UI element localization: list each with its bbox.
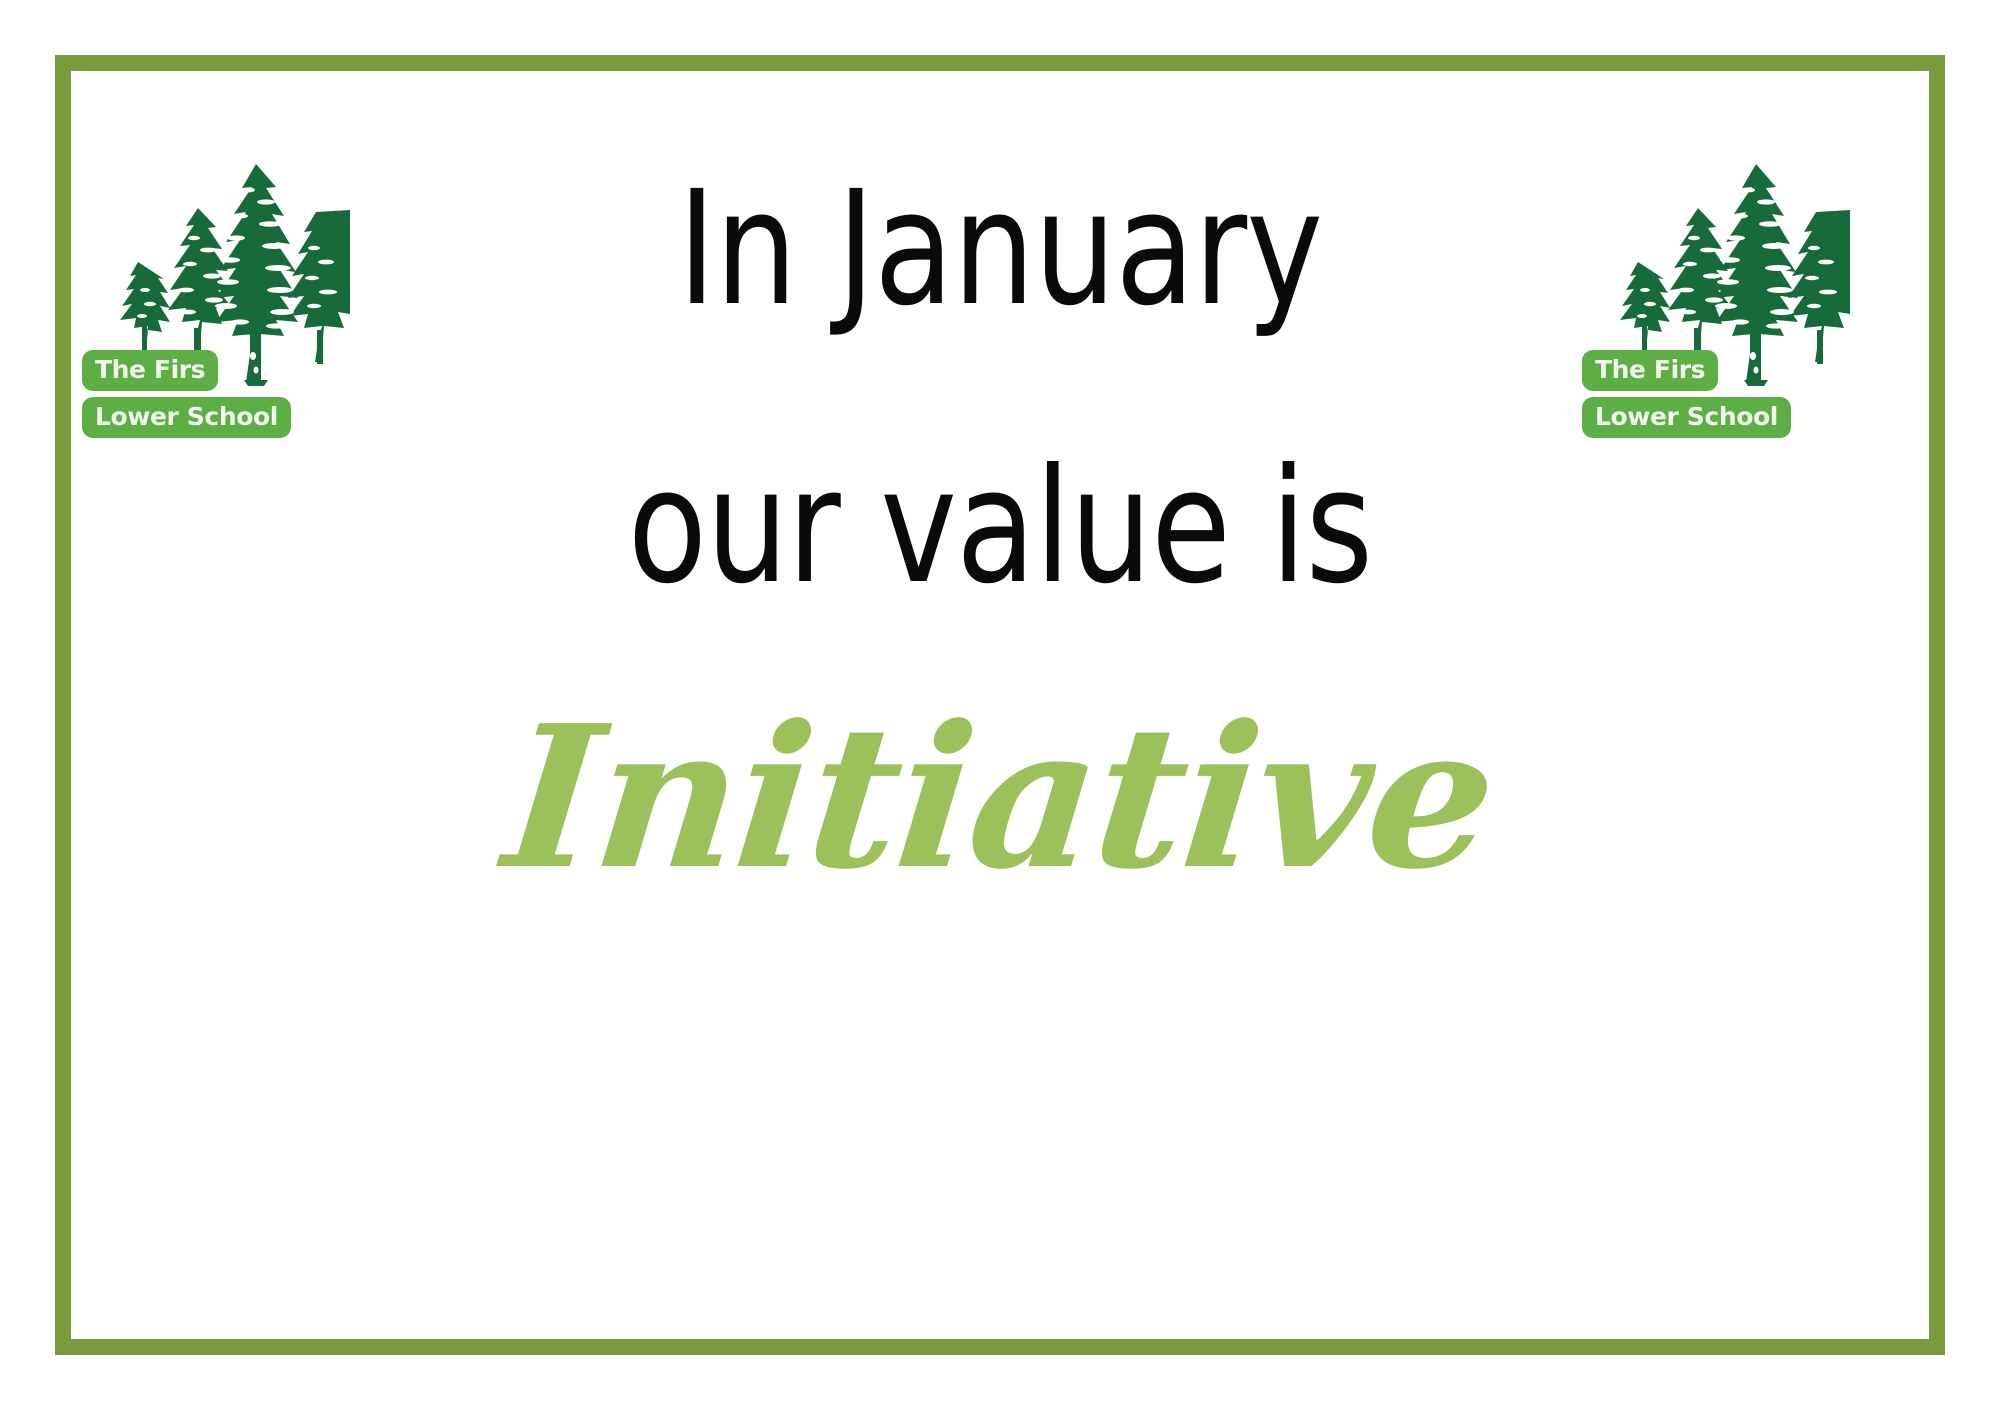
badge-row-the-firs: The Firs xyxy=(82,350,342,391)
logo-badges: The Firs Lower School xyxy=(1582,350,1842,444)
headline-line-2: our value is xyxy=(180,448,1820,606)
badge-row-lower-school: Lower School xyxy=(1582,397,1842,438)
badge-row-the-firs: The Firs xyxy=(1582,350,1842,391)
badge-row-lower-school: Lower School xyxy=(82,397,342,438)
badge-the-firs: The Firs xyxy=(82,350,218,391)
headline-line-1: In January xyxy=(180,170,1820,328)
badge-the-firs: The Firs xyxy=(1582,350,1718,391)
value-word: Initiative xyxy=(0,700,2000,896)
badge-lower-school: Lower School xyxy=(1582,397,1791,438)
value-poster: The Firs Lower School xyxy=(0,0,2000,1414)
badge-lower-school: Lower School xyxy=(82,397,291,438)
logo-badges: The Firs Lower School xyxy=(82,350,342,444)
